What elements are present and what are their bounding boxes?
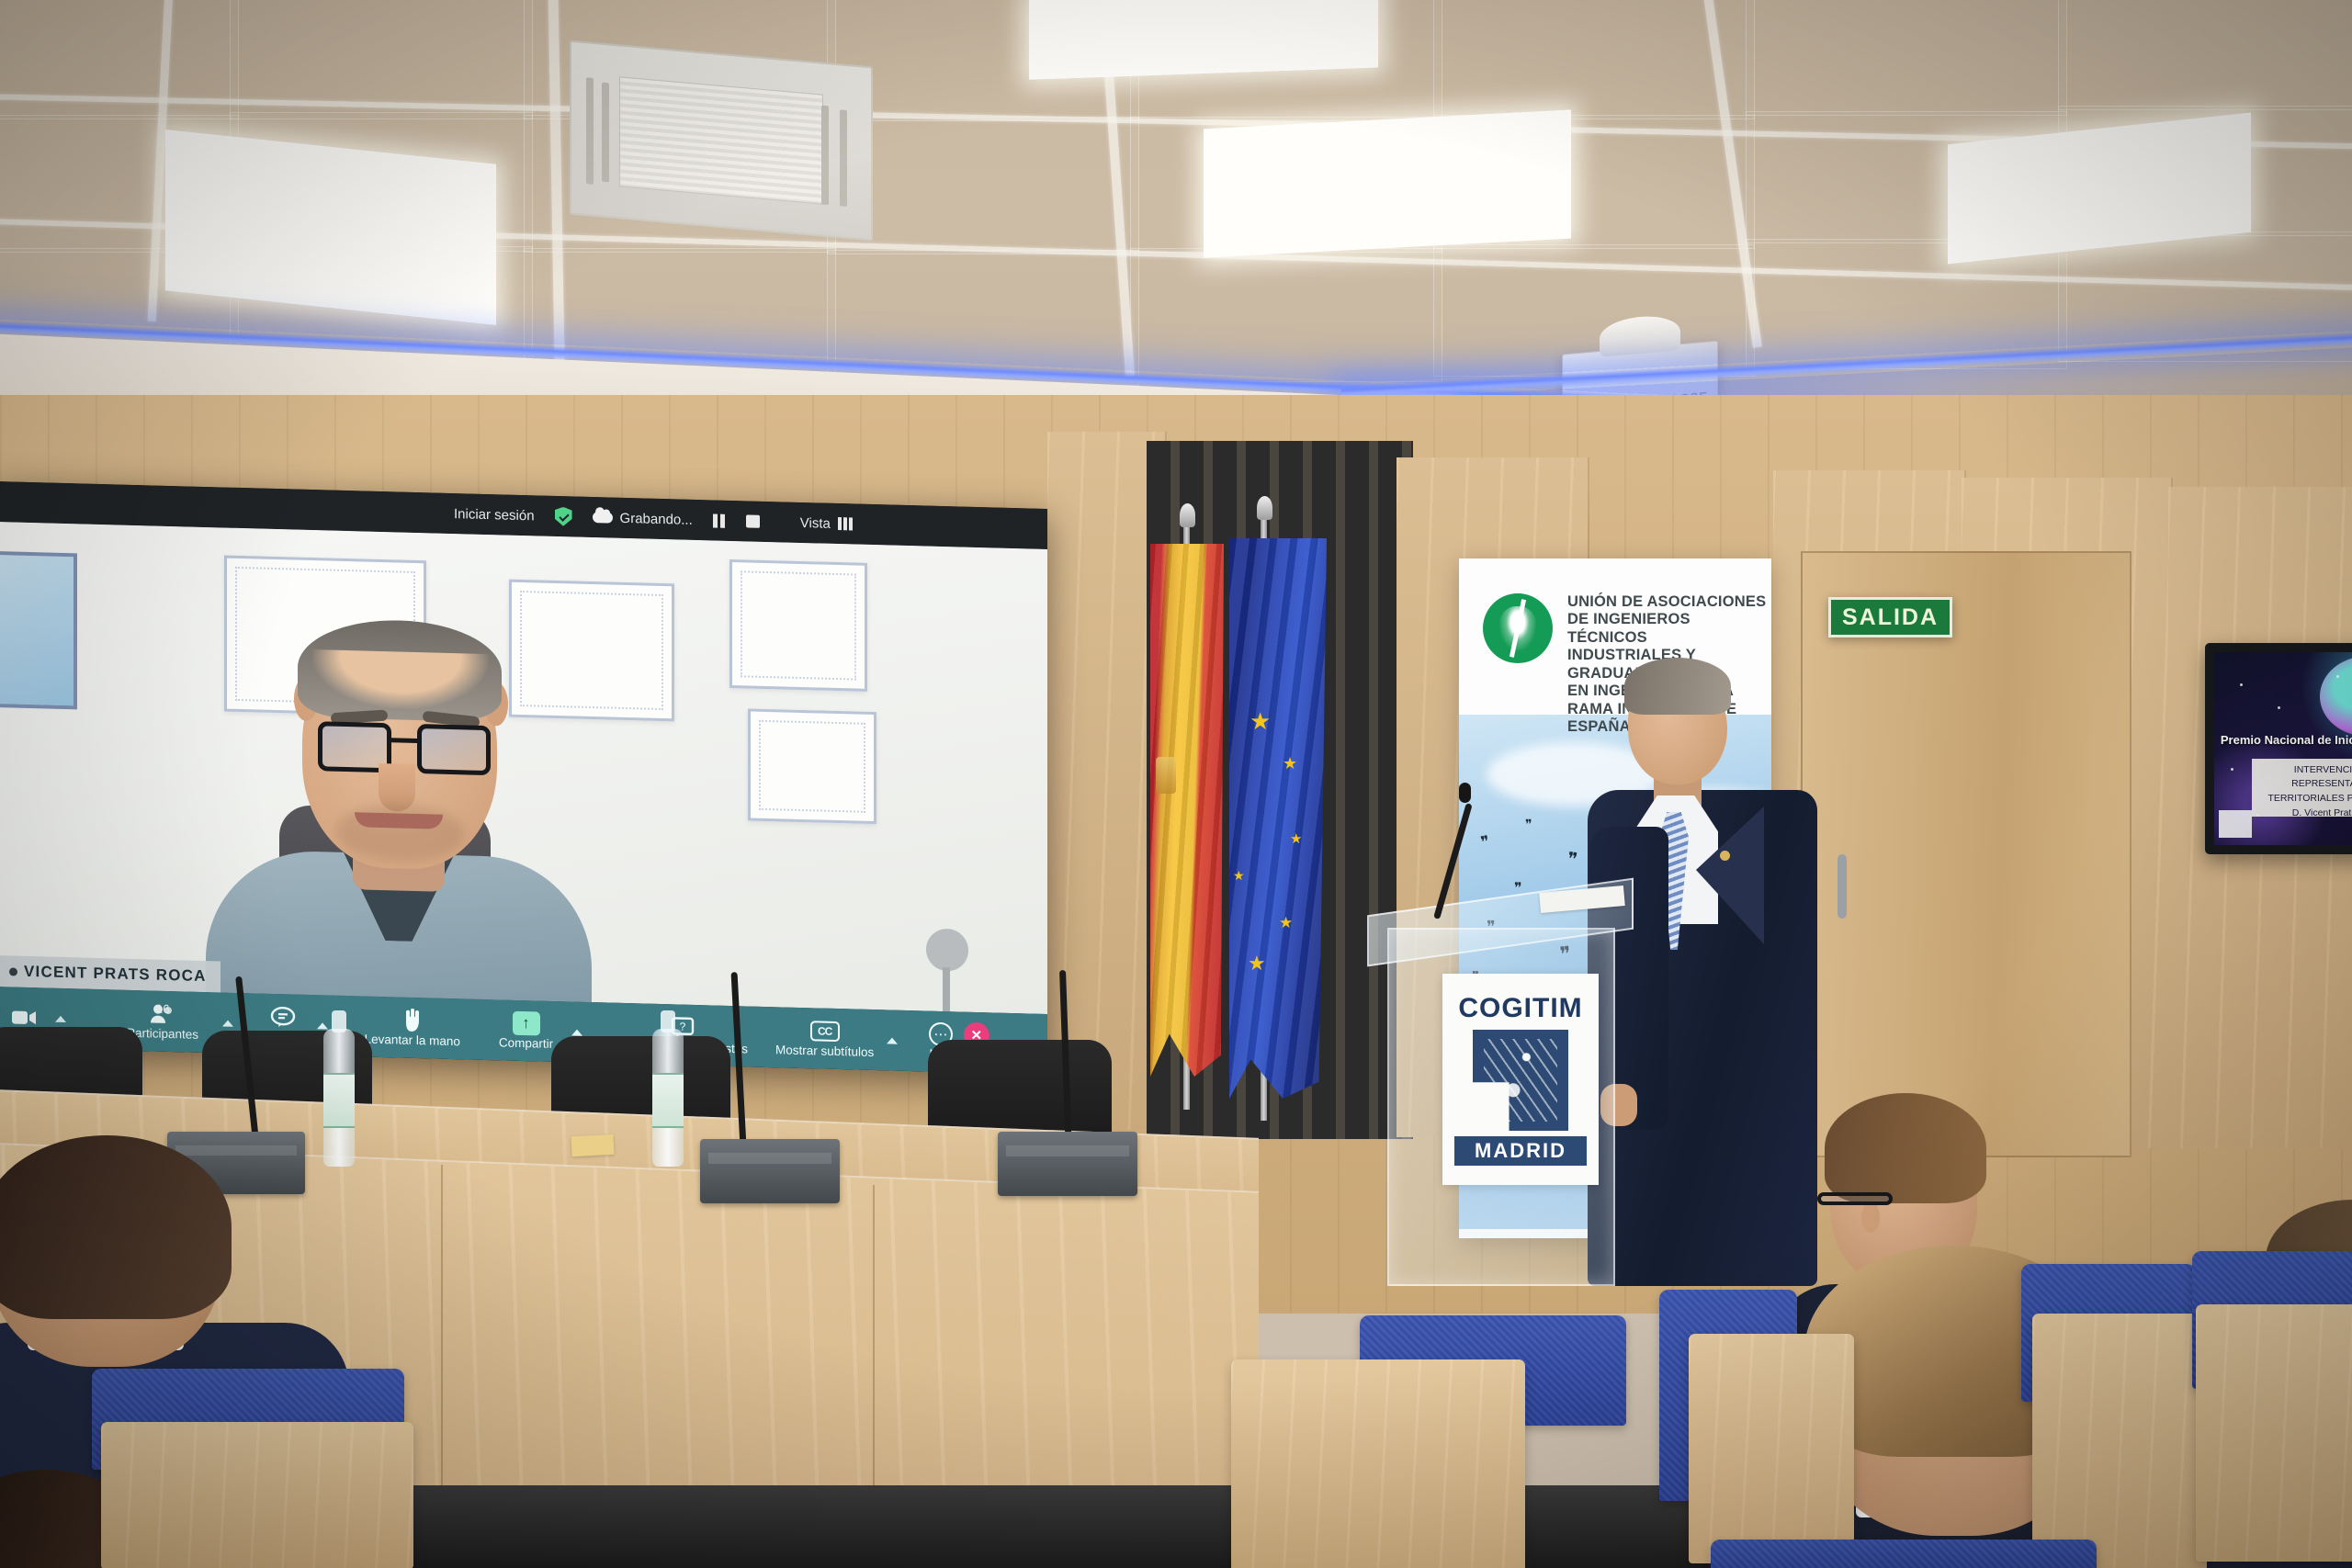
audience-seat-back	[2032, 1314, 2207, 1568]
slide-corner-logo	[2219, 810, 2253, 837]
tv-slide: Premio Nacional de Iniciación a la Inves…	[2214, 652, 2352, 845]
stop-icon[interactable]	[746, 514, 760, 527]
tool-compartir[interactable]: ↑ Compartir	[499, 1011, 553, 1051]
led-panel-light-icon	[1029, 0, 1378, 80]
chat-bubble-glyph	[270, 1005, 296, 1028]
audience-seat-back	[2196, 1304, 2352, 1562]
video-camera-glyph	[11, 1009, 37, 1026]
lapel-pin-icon	[1720, 851, 1730, 861]
bandera-union-europea: ★ ★ ★ ★ ★ ★	[1229, 538, 1327, 1099]
lectern-microphone-head	[1459, 783, 1471, 803]
participant-mouth	[355, 812, 443, 829]
table-note-card	[571, 1134, 614, 1156]
wall-poster	[0, 550, 77, 709]
exit-sign: SALIDA	[1828, 597, 1952, 637]
wall-certificate-frame	[748, 708, 876, 824]
cogitim-wordmark: COGITIM	[1458, 993, 1582, 1024]
pause-icon[interactable]	[713, 513, 726, 527]
audience-seat-back	[1689, 1334, 1854, 1563]
flag-finial	[1257, 496, 1272, 520]
uaitie-green-seal-icon	[1483, 593, 1553, 663]
recording-indicator: Grabando...	[593, 510, 693, 528]
audience-hair	[0, 1135, 232, 1319]
flag-finial	[1180, 503, 1195, 527]
glasses-bridge	[391, 738, 417, 743]
tool-label-subtitulos: Mostrar subtítulos	[775, 1043, 874, 1059]
conference-microphone-base-icon	[998, 1132, 1137, 1196]
view-label: Vista	[800, 514, 831, 531]
glasses-lens	[417, 724, 491, 775]
wall-certificate-frame	[729, 559, 867, 692]
self-view-camera-button[interactable]	[11, 1006, 37, 1029]
tool-label-compartir: Compartir	[499, 1035, 553, 1051]
videocall-main-video	[0, 522, 1047, 1014]
participant-count-badge: 16	[156, 1001, 169, 1015]
lectern-logo-plate: COGITIM MADRID	[1442, 974, 1599, 1185]
shield-check-icon	[555, 506, 572, 525]
share-up-arrow-icon: ↑	[513, 1011, 540, 1034]
chevron-up-icon[interactable]	[222, 1020, 233, 1026]
wall-certificate-frame	[509, 580, 674, 722]
slide-card: INTERVENCIONES REPRESENTANTES TERRITORIA…	[2252, 759, 2352, 817]
slide-title: Premio Nacional de Iniciación a la Inves…	[2221, 733, 2352, 747]
tool-mostrar-subtitulos[interactable]: CC Mostrar subtítulos	[775, 1019, 874, 1059]
chevron-up-icon[interactable]	[317, 1022, 328, 1029]
sign-in-button[interactable]: Iniciar sesión	[454, 506, 535, 524]
microphone-icon	[9, 967, 17, 976]
video-camera-icon	[11, 1006, 37, 1029]
exit-door[interactable]	[1801, 551, 2131, 1157]
projection-screen: Iniciar sesión Grabando... Vista	[0, 481, 1047, 1075]
exit-sign-label: SALIDA	[1842, 604, 1939, 631]
audience-glasses	[1817, 1192, 1893, 1205]
tool-levantar-mano[interactable]: Levantar la mano	[365, 1008, 460, 1048]
water-bottle	[323, 1029, 355, 1167]
wall-tv-monitor: Premio Nacional de Iniciación a la Inves…	[2205, 643, 2352, 854]
slide-card-line-1: INTERVENCIONES REPRESENTANTES	[2256, 763, 2352, 793]
chevron-up-icon[interactable]	[55, 1015, 66, 1021]
cogitim-city-label: MADRID	[1454, 1136, 1587, 1166]
led-panel-light-icon	[1204, 110, 1571, 258]
speaker-hair	[1624, 658, 1731, 715]
water-bottle	[652, 1029, 684, 1167]
audience-seat[interactable]	[1711, 1540, 2097, 1568]
audience-seat-back	[1231, 1359, 1525, 1568]
conference-room-photo: BOSE SALIDA Premio Nacional de Iniciació…	[0, 0, 2352, 1568]
spain-coat-of-arms-icon	[1156, 757, 1176, 794]
tool-label-levantar-mano: Levantar la mano	[365, 1032, 460, 1048]
cogitim-emblem-icon	[1473, 1030, 1568, 1131]
view-switch-button[interactable]: Vista	[800, 514, 853, 531]
banner-logo-row: UNIÓN DE ASOCIACIONES DE INGENIEROS TÉCN…	[1483, 593, 1771, 737]
recording-label: Grabando...	[620, 510, 693, 527]
grid-layout-icon	[838, 517, 853, 530]
audience-ear	[1861, 1201, 1880, 1233]
raise-hand-glyph	[402, 1008, 423, 1032]
slide-illustration	[2320, 656, 2352, 737]
active-speaker-name: VICENT PRATS ROCA	[24, 963, 207, 986]
chevron-up-icon[interactable]	[887, 1037, 898, 1043]
slide-card-line-3: D. Vicent Prats Roca	[2256, 807, 2352, 817]
air-conditioning-vent-icon	[570, 40, 873, 242]
chevron-up-icon[interactable]	[571, 1029, 582, 1035]
conference-microphone-base-icon	[700, 1139, 840, 1203]
door-handle[interactable]	[1837, 854, 1847, 919]
closed-captions-icon: CC	[810, 1020, 840, 1043]
org-line-2: DE INGENIEROS TÉCNICOS	[1567, 611, 1771, 647]
audience-seat-back	[101, 1422, 413, 1568]
desk-lamp	[926, 929, 968, 972]
bandera-de-espana	[1150, 544, 1224, 1077]
tool-participantes[interactable]: Participantes 16	[127, 1001, 198, 1041]
org-line-1: UNIÓN DE ASOCIACIONES	[1567, 593, 1771, 611]
raise-hand-icon	[402, 1009, 423, 1032]
cloud-icon	[593, 512, 613, 524]
sign-in-label: Iniciar sesión	[454, 506, 535, 524]
slide-card-line-2: TERRITORIALES PRESENTES	[2256, 792, 2352, 807]
chat-bubble-icon	[270, 1005, 296, 1028]
audience-hair	[1825, 1093, 1986, 1203]
